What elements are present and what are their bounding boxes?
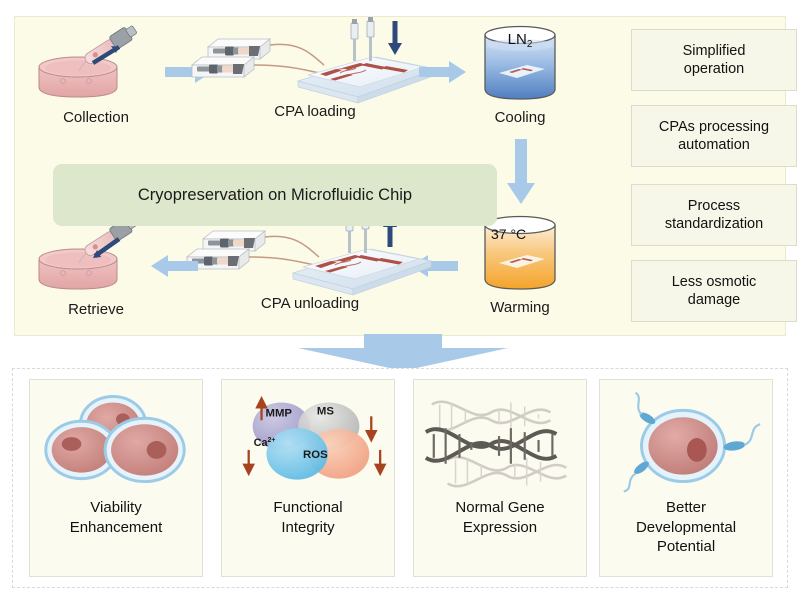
sperm-icon bbox=[636, 393, 658, 427]
outcome-card-gene[interactable]: Normal Gene Expression bbox=[413, 379, 587, 577]
workflow-step-label: CPA loading bbox=[190, 103, 440, 120]
outcome-label: Viability Enhancement bbox=[30, 498, 202, 537]
petri-dish-pipette-icon bbox=[21, 25, 171, 103]
cryopreservation-banner: Cryopreservation on Microfluidic Chip bbox=[53, 164, 497, 226]
arrow-down-cooling-to-warming bbox=[506, 139, 536, 205]
workflow-step-retrieve[interactable]: Retrieve bbox=[21, 217, 171, 322]
outcome-label: Normal Gene Expression bbox=[414, 498, 586, 537]
figure-root: Collection bbox=[0, 0, 800, 600]
benefit-label: CPAs processing automation bbox=[659, 118, 769, 154]
workflow-step-label: Warming bbox=[455, 299, 585, 316]
workflow-panel: Collection bbox=[14, 16, 786, 336]
marker-label-mmp: MMP bbox=[265, 407, 292, 419]
workflow-step-cooling[interactable]: LN2 Cooling bbox=[455, 23, 585, 131]
ln2-beaker-icon: LN2 bbox=[455, 23, 585, 107]
cryopreservation-banner-label: Cryopreservation on Microfluidic Chip bbox=[138, 186, 412, 205]
workflow-step-label: CPA unloading bbox=[185, 295, 435, 312]
organelle-venn-icon: MMP MS Ca2+ ROS bbox=[222, 388, 394, 498]
dna-helix-icon bbox=[414, 388, 586, 498]
workflow-step-collection[interactable]: Collection bbox=[21, 25, 171, 130]
sperm-icon bbox=[624, 459, 651, 491]
outcomes-panel: Viability Enhancement bbox=[12, 368, 788, 588]
benefit-label: Less osmotic damage bbox=[672, 273, 757, 309]
workflow-step-label: Cooling bbox=[455, 109, 585, 126]
workflow-step-cpa-unloading[interactable]: CPA unloading bbox=[185, 211, 435, 323]
outcome-label: Better Developmental Potential bbox=[600, 498, 772, 557]
benefit-box-simplified-operation[interactable]: Simplified operation bbox=[631, 29, 797, 91]
outcome-card-viability[interactable]: Viability Enhancement bbox=[29, 379, 203, 577]
workflow-step-label: Collection bbox=[21, 109, 171, 126]
oocyte-sperm-icon bbox=[600, 388, 772, 498]
ln2-label: LN bbox=[508, 31, 527, 48]
syringe-pump-chip-icon bbox=[190, 19, 440, 111]
benefit-box-less-osmotic-damage[interactable]: Less osmotic damage bbox=[631, 260, 797, 322]
arrow-down-panel-connector bbox=[278, 334, 528, 372]
marker-label-ms: MS bbox=[317, 405, 334, 417]
outcome-card-developmental[interactable]: Better Developmental Potential bbox=[599, 379, 773, 577]
workflow-step-cpa-loading[interactable]: CPA loading bbox=[190, 19, 440, 131]
marker-label-ros: ROS bbox=[303, 449, 328, 461]
benefit-label: Process standardization bbox=[665, 197, 763, 233]
outcome-card-functional[interactable]: MMP MS Ca2+ ROS bbox=[221, 379, 395, 577]
benefit-box-process-standardization[interactable]: Process standardization bbox=[631, 184, 797, 246]
warming-temp-label: 37 °C bbox=[491, 226, 526, 242]
oocyte-cluster-icon bbox=[30, 388, 202, 498]
sperm-icon bbox=[723, 424, 760, 452]
benefit-label: Simplified operation bbox=[683, 42, 746, 78]
workflow-step-label: Retrieve bbox=[21, 301, 171, 318]
outcome-label: Functional Integrity bbox=[222, 498, 394, 537]
workflow-step-warming[interactable]: 37 °C Warming bbox=[455, 213, 585, 321]
petri-dish-pipette-icon bbox=[21, 217, 171, 295]
benefit-box-cpas-automation[interactable]: CPAs processing automation bbox=[631, 105, 797, 167]
